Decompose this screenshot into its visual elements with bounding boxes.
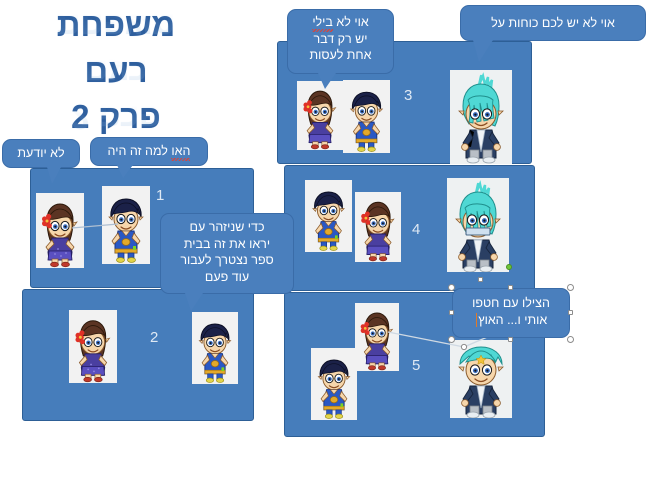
callout-oy-lo-bili-line-3: אחת לעסות: [297, 47, 384, 64]
page-title: משפחת רעם פרק 2: [0, 2, 232, 140]
callout-kdei-shenizaher[interactable]: כדי שניזהר עם יראו את זה בבית ספר נצטרך …: [160, 213, 294, 294]
callout-tail: [117, 165, 133, 178]
panel-number-5: 5: [412, 358, 420, 373]
girl-sprite: [355, 192, 401, 262]
callout-oy-lo-bili-line-1: אוי לא בילי: [297, 14, 384, 31]
spellcheck-underline: האו: [171, 143, 190, 160]
callout-oy-lo-bili[interactable]: אוי לא בילי יש רק דבר אחת לעסות: [287, 9, 394, 74]
boy-character[interactable]: [102, 186, 150, 264]
callout-line-prefix: אוי לא: [333, 15, 369, 29]
title-line-3: פרק 2: [0, 94, 232, 140]
panel-number-3: 3: [404, 88, 412, 103]
teal-sprite: [450, 70, 512, 164]
callout-kdei-line-1: כדי שניזהר עם: [170, 219, 284, 236]
callout-hatzilu-line-1: הצילו עם חטפו: [462, 295, 560, 312]
selection-handle-bottom[interactable]: [508, 337, 513, 342]
selection-handle-corner-bl[interactable]: [448, 336, 455, 343]
girl-character[interactable]: [355, 303, 399, 371]
title-line-1: משפחת: [0, 2, 232, 48]
callout-lo-yodaat-line-1: לא יודעת: [17, 145, 64, 162]
selection-handle-corner-br[interactable]: [567, 336, 574, 343]
callout-hatzilu[interactable]: הצילו עם חטפו אותי ו... האוץ: [452, 288, 570, 338]
callout-oy-lo-bili-line-2: יש רק דבר: [297, 31, 384, 48]
callout-kdei-line-3: ספר נצטרך לעבור: [170, 252, 284, 269]
girl-character[interactable]: [355, 192, 401, 262]
teal-haired-character[interactable]: [447, 178, 509, 272]
slide-canvas: 1 2 3 4 5: [0, 0, 649, 483]
callout-kohot-al-line-1: אוי לא יש לכם כוחות על: [491, 15, 615, 32]
panel-number-1: 1: [156, 188, 164, 203]
selection-handle-corner-tl[interactable]: [448, 284, 455, 291]
boy-sprite: [343, 80, 390, 153]
boy-character[interactable]: [311, 348, 357, 420]
panel-number-2: 2: [150, 330, 158, 345]
callout-hatzilu-line-2: אותי ו... האוץ: [462, 312, 560, 329]
selection-handle-right[interactable]: [568, 310, 573, 315]
callout-tail: [318, 73, 336, 89]
panel-number-4: 4: [412, 222, 420, 237]
callout-tail: [473, 40, 493, 62]
spellcheck-underline: בילי: [312, 14, 333, 31]
girl-sprite: [297, 81, 343, 150]
callout-lo-yodaat[interactable]: לא יודעת: [2, 139, 80, 168]
boy-sprite: [102, 186, 150, 264]
callout-tail: [47, 167, 61, 184]
callout-kdei-line-2: יראו את זה בבית: [170, 236, 284, 253]
callout-haon-visible: למה זה היה: [108, 144, 168, 158]
boy-sprite: [311, 348, 357, 420]
teal-haired-character[interactable]: [450, 340, 512, 418]
teal-haired-character[interactable]: [450, 70, 512, 164]
boy-character[interactable]: [192, 312, 238, 384]
callout-tail: [185, 293, 203, 311]
teal-sprite-short: [450, 340, 512, 418]
girl-sprite: [36, 193, 84, 268]
girl-character[interactable]: [69, 310, 117, 383]
selection-handle-top[interactable]: [508, 285, 513, 290]
callout-haon[interactable]: האו האו למה זה היהלמה זה היה: [90, 137, 208, 166]
girl-sprite: [355, 303, 399, 371]
selection-handle-bottom[interactable]: [478, 277, 483, 282]
title-line-2: רעם: [0, 48, 232, 94]
callout-haon-line-1: האו האו למה זה היהלמה זה היה: [108, 143, 191, 160]
callout-hatzilu-line-2-text: אותי ו... האוץ: [478, 313, 547, 327]
selection-handle-left[interactable]: [449, 310, 454, 315]
callout-kdei-line-4: עוד פעם: [170, 269, 284, 286]
teal-sprite-gagged: [447, 178, 509, 272]
rotate-handle[interactable]: [506, 264, 512, 270]
selection-handle-corner-tr[interactable]: [567, 284, 574, 291]
callout-kohot-al[interactable]: אוי לא יש לכם כוחות על: [460, 5, 646, 41]
boy-sprite: [305, 180, 352, 252]
boy-sprite: [192, 312, 238, 384]
boy-character[interactable]: [305, 180, 352, 252]
boy-character[interactable]: [343, 80, 390, 153]
girl-sprite: [69, 310, 117, 383]
girl-character[interactable]: [36, 193, 84, 268]
girl-character[interactable]: [297, 81, 343, 150]
